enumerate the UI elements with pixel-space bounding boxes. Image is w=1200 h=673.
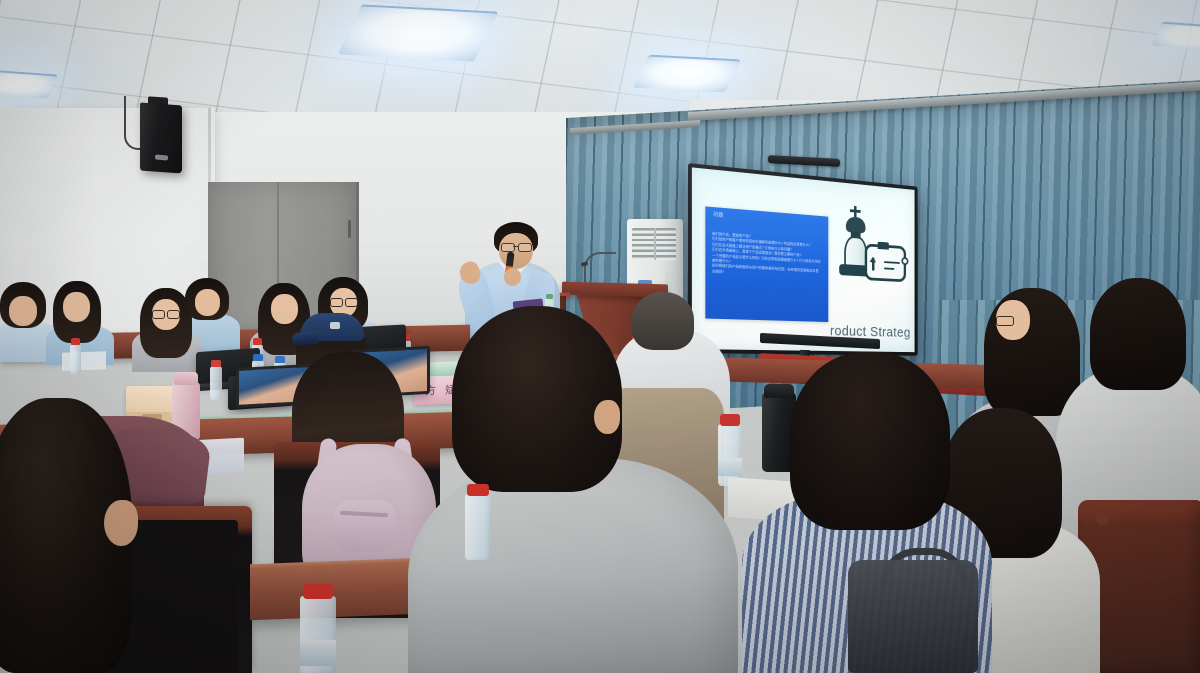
ceiling-light-panel (633, 55, 741, 93)
person-hair (632, 292, 694, 350)
cap-logo-icon (330, 322, 340, 329)
connector-node-icon (901, 257, 908, 266)
classroom-photo-scene: 问题 我们的产品，是谁的产品? 它们给用户和客户带来的真实价值和利益是什么? 利… (0, 0, 1200, 673)
presentation-display[interactable]: 问题 我们的产品，是谁的产品? 它们给用户和客户带来的真实价值和利益是什么? 利… (688, 163, 918, 356)
slide-canvas: 问题 我们的产品，是谁的产品? 它们给用户和客户带来的真实价值和利益是什么? 利… (692, 167, 915, 352)
baseball-cap-brim (291, 331, 318, 347)
slide-text-block: 问题 我们的产品，是谁的产品? 它们给用户和客户带来的真实价值和利益是什么? 利… (705, 207, 828, 322)
air-conditioner-vent-divider (654, 228, 656, 260)
backpack-pocket (334, 500, 396, 552)
glasses-icon (167, 310, 180, 319)
person-face (9, 296, 37, 326)
glasses-icon (330, 298, 343, 307)
speaker-badge (155, 155, 168, 161)
slide-body-lines: 我们的产品，是谁的产品? 它们给用户和客户带来的真实价值和利益是什么? 利益的边… (712, 232, 822, 280)
person-hair (452, 306, 622, 492)
slide-graphic (830, 203, 905, 295)
bottle-cap (720, 414, 740, 426)
glasses-icon (345, 298, 358, 307)
chess-king-body-icon (844, 235, 867, 268)
chair-knob (1096, 512, 1109, 525)
bottle-cap (546, 294, 553, 299)
air-conditioner-remote[interactable] (665, 272, 673, 285)
bottle-cap (253, 354, 263, 361)
bottle-cap (71, 338, 80, 345)
water-bottle[interactable] (70, 344, 81, 374)
glasses-icon (996, 316, 1014, 326)
ceiling-light-panel (0, 69, 58, 98)
person-face (271, 294, 298, 324)
bottle-label (300, 640, 336, 666)
handbag[interactable] (848, 560, 978, 673)
glasses-icon (501, 243, 515, 252)
bottle-cap (253, 338, 262, 345)
up-arrow-icon (872, 257, 874, 270)
glasses-icon (152, 310, 165, 319)
glasses-icon (518, 243, 532, 252)
ceiling-light-panel (338, 4, 499, 61)
bottle-cap (275, 356, 285, 363)
bottle-cap (303, 584, 333, 599)
person-ear (104, 500, 138, 546)
package-flap-icon (878, 241, 889, 249)
bottle-label (718, 458, 742, 476)
slide-heading: 问题 (713, 213, 723, 219)
paper-sheet (62, 351, 106, 371)
person-hair (1090, 278, 1186, 390)
presenter-hand-right (504, 268, 521, 286)
person-ear (594, 400, 620, 434)
glasses-bridge-icon (513, 246, 518, 247)
water-bottle[interactable] (210, 366, 222, 400)
person-face (195, 289, 220, 316)
person-hair (790, 352, 950, 530)
thermos-cap (764, 384, 794, 398)
door-handle[interactable] (348, 220, 351, 238)
person-face (63, 292, 90, 322)
bottle-cap (467, 484, 489, 496)
water-bottle[interactable] (465, 494, 491, 560)
wall-speaker-icon (140, 103, 182, 174)
chess-king-cross-icon (850, 209, 861, 213)
bottle-cap (211, 360, 221, 367)
thermos-cap (174, 372, 198, 385)
